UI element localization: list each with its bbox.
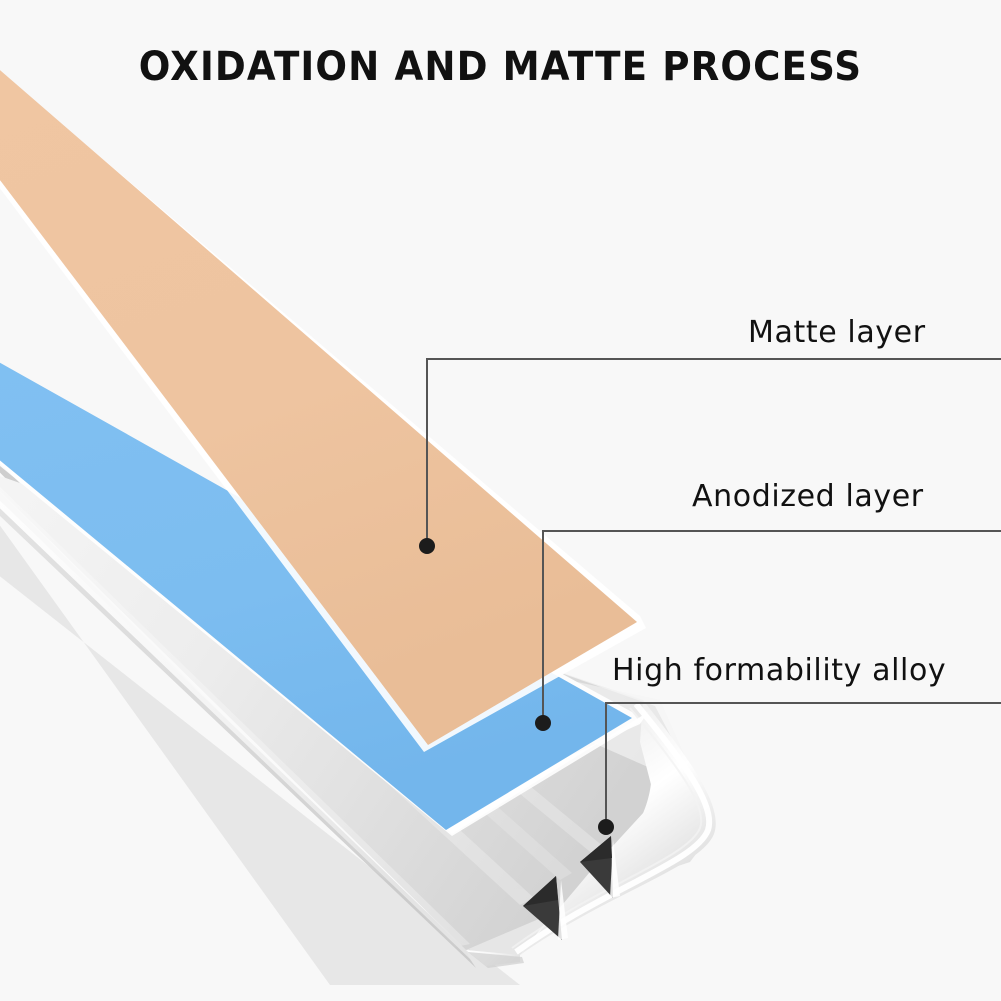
diagram-canvas: OXIDATION AND MATTE PROCESS Matte layer … [0, 0, 1001, 1001]
callout-label-anodized-layer: Anodized layer [692, 479, 924, 514]
callout-dot-alloy [598, 819, 614, 835]
callout-dot-anodized [535, 715, 551, 731]
callout-dot-matte [419, 538, 435, 554]
callout-label-matte-layer: Matte layer [748, 315, 926, 350]
callout-label-high-formability-alloy: High formability alloy [612, 653, 946, 688]
